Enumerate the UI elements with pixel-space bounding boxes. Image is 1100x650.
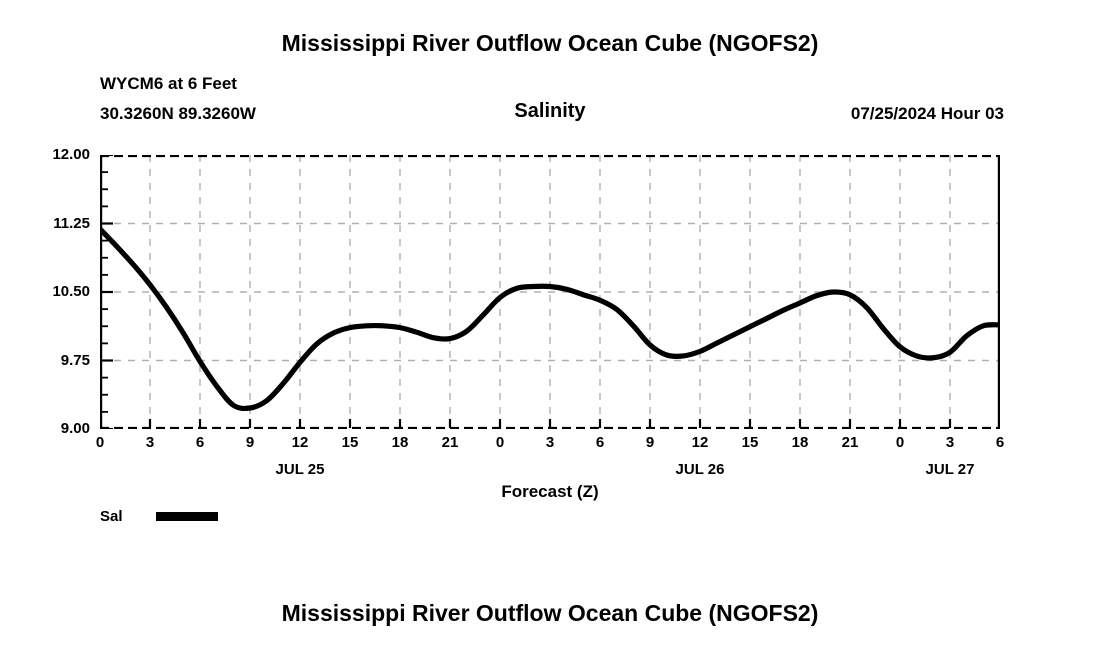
legend: Sal	[100, 508, 218, 525]
footer-title: Mississippi River Outflow Ocean Cube (NG…	[0, 600, 1100, 627]
x-tick-label: 18	[380, 434, 420, 451]
y-tick-label: 12.00	[20, 146, 90, 163]
x-tick-label: 15	[330, 434, 370, 451]
x-tick-label: 18	[780, 434, 820, 451]
y-axis-ticks	[101, 155, 113, 429]
legend-swatch-sal	[156, 512, 218, 521]
plot-area	[100, 155, 1000, 429]
x-tick-label: 15	[730, 434, 770, 451]
x-tick-label: 12	[680, 434, 720, 451]
chart-page: Mississippi River Outflow Ocean Cube (NG…	[0, 0, 1100, 650]
x-tick-label: 21	[830, 434, 870, 451]
x-tick-label: 12	[280, 434, 320, 451]
page-title: Mississippi River Outflow Ocean Cube (NG…	[0, 30, 1100, 57]
x-tick-label: 9	[230, 434, 270, 451]
x-tick-label: 0	[80, 434, 120, 451]
chart-canvas	[100, 155, 1000, 429]
x-tick-label: 6	[580, 434, 620, 451]
x-axis-ticks	[100, 419, 1000, 428]
x-tick-label: 0	[880, 434, 920, 451]
station-label: WYCM6 at 6 Feet	[100, 74, 237, 94]
x-tick-label: 6	[180, 434, 220, 451]
x-day-label: JUL 26	[640, 461, 760, 478]
run-time-label: 07/25/2024 Hour 03	[851, 104, 1004, 124]
x-day-label: JUL 27	[890, 461, 1010, 478]
y-tick-label: 10.50	[20, 283, 90, 300]
legend-label: Sal	[100, 508, 156, 525]
x-tick-label: 21	[430, 434, 470, 451]
x-tick-label: 3	[130, 434, 170, 451]
x-tick-label: 3	[930, 434, 970, 451]
y-tick-label: 11.25	[20, 215, 90, 232]
y-tick-label: 9.75	[20, 352, 90, 369]
x-tick-label: 0	[480, 434, 520, 451]
x-axis-title: Forecast (Z)	[0, 482, 1100, 502]
x-day-label: JUL 25	[240, 461, 360, 478]
x-tick-label: 3	[530, 434, 570, 451]
x-tick-label: 6	[980, 434, 1020, 451]
x-tick-label: 9	[630, 434, 670, 451]
